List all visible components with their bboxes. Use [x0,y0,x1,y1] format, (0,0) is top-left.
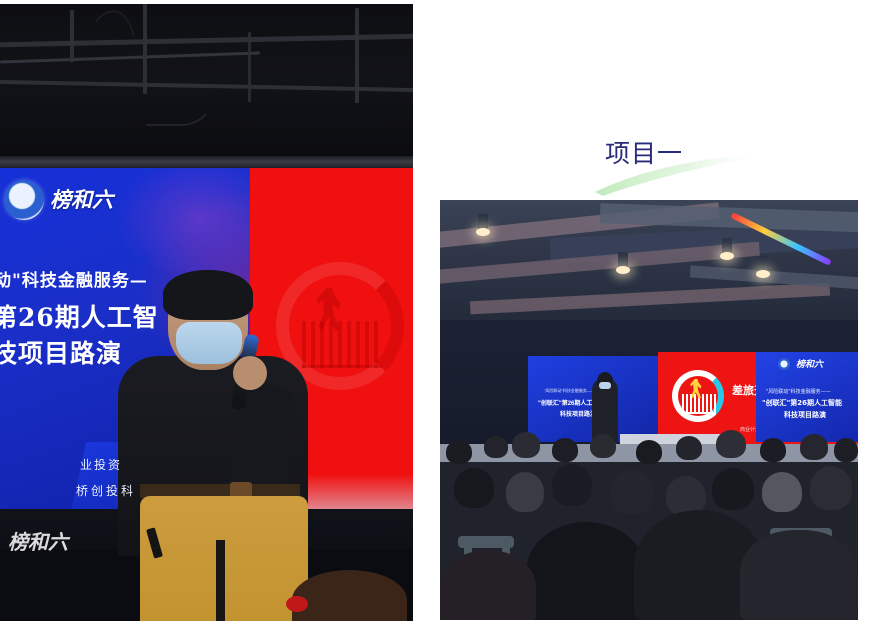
screen-headline-line-1: 动"科技金融服务— [0,266,148,291]
stage-screen-right-line-1: "风险联动"科技金融服务—— [766,388,831,395]
audience-head [446,440,472,464]
ceiling-spotlight [618,252,628,268]
page-title-block: 项目一 [560,132,820,192]
industrial-ceiling [440,200,858,328]
photo-speaker-on-stage: 榜和六 动"科技金融服务— 第26期人工智 技项目路演 业投资 桥创投科 榜和六… [0,4,413,621]
ceiling-cable [73,6,147,88]
audience-head [552,438,578,462]
speaker-hair [163,270,253,320]
speaker-hand [233,356,267,390]
foreground-red-object [286,596,308,612]
screen-subtext-1: 业投资 [80,456,122,473]
ceiling-pipe [143,4,147,94]
stage-screen-right-line-3: 科技项目路演 [784,410,826,420]
audience-head [590,434,616,458]
ceiling-pipe [248,32,251,102]
organizer-emblem-icon [4,180,44,220]
audience-head [834,438,858,462]
ceiling-pipe [70,10,74,62]
stage-screen-left-line-1: "风险联动"科技金融服务—— [544,388,595,394]
audience-head-front [740,530,858,620]
organizer-emblem-icon [778,358,790,370]
audience-head [552,464,592,506]
audience-head [506,472,544,512]
audience-head [610,470,654,514]
ceiling-spotlight [722,238,732,254]
audience-head-front [526,522,646,620]
stage-screen-right-line-2: "创联汇"第26期人工智能 [762,398,842,408]
audience-head [712,468,754,510]
ceiling-pipe [0,34,413,48]
audience-head [716,430,746,458]
trouser-gap [216,540,225,621]
audience-head-front [440,550,536,620]
screen-headline-line-3: 技项目路演 [0,334,122,370]
audience-head [512,432,540,458]
ceiling-dark [0,4,413,164]
ceiling-spotlight [758,256,768,272]
page-title: 项目一 [605,134,683,170]
face-mask [176,322,242,364]
running-figure-ring-logo-icon [672,370,724,422]
screen-headline-line-2: 第26期人工智 [0,298,159,334]
stage-screen-left-line-3: 科技项目路演 [560,409,596,418]
ceiling-pipe [355,8,359,103]
ceiling-cable [145,82,219,126]
photo-venue-overview: "风险联动"科技金融服务—— "创联汇"第26期人工智能 科技项目路演 差旅天下… [440,200,858,620]
audience-head [762,472,802,512]
screen-brand-text: 榜和六 [50,184,113,214]
audience-head [760,438,786,462]
audience-head [484,436,508,458]
foreground-audience-head [292,570,407,621]
ceiling-beam [470,283,830,315]
ceiling-spotlight [478,214,488,230]
audience-head [800,434,828,460]
audience-head [810,466,852,510]
stage-screen-right-brand: 榜和六 [796,357,823,370]
audience-head [676,436,702,460]
audience-head [636,440,662,464]
slide-page: 项目一 榜和六 动"科技金融服务— 第26期人工智 [0,0,874,629]
podium-brand-text: 榜和六 [8,526,68,555]
audience-head [454,468,494,508]
stage-speaker-mask [599,382,611,389]
screen-subtext-2: 桥创投科 [76,482,136,499]
